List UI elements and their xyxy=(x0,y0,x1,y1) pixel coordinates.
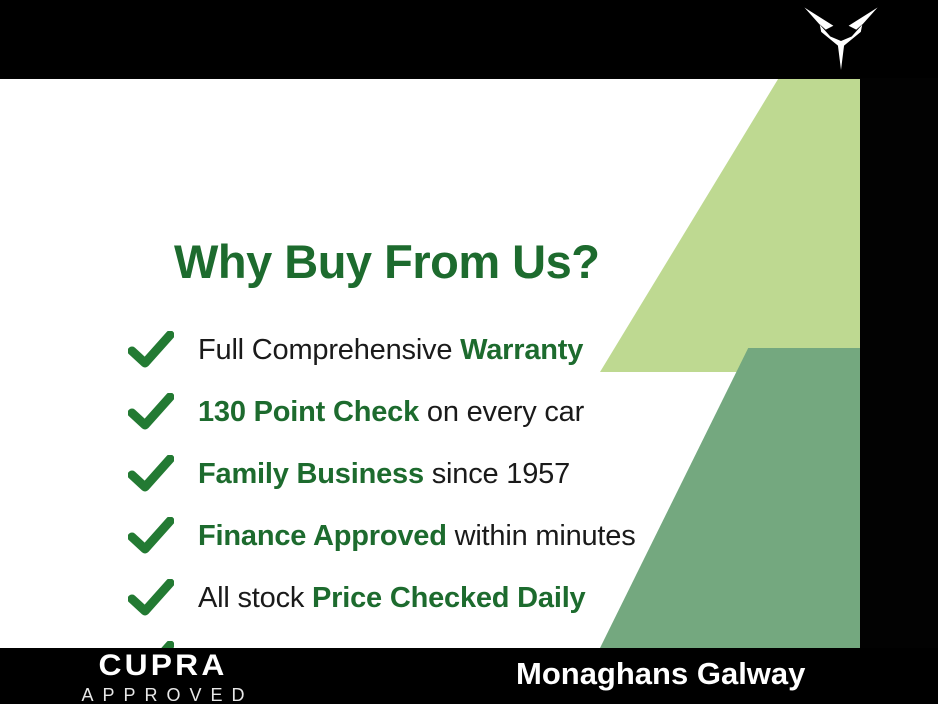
list-item-label: Family Business since 1957 xyxy=(198,458,570,491)
check-icon xyxy=(128,579,174,617)
header-bar xyxy=(0,0,938,78)
check-icon xyxy=(128,641,174,648)
benefits-list: Full Comprehensive Warranty 130 Point Ch… xyxy=(128,319,788,648)
approved-label: APPROVED xyxy=(68,686,258,704)
check-icon xyxy=(128,455,174,493)
list-item-label: 130 Point Check on every car xyxy=(198,396,584,429)
list-item-label: Full Comprehensive Warranty xyxy=(198,334,583,367)
cupra-wordmark: CUPRA xyxy=(62,651,263,681)
list-item: 130 Point Check on every car xyxy=(128,381,788,443)
list-item: Finance Approved within minutes xyxy=(128,505,788,567)
page-title: Why Buy From Us? xyxy=(174,234,599,289)
dealer-name: Monaghans Galway xyxy=(516,656,805,692)
cupra-tribal-logo-icon xyxy=(802,6,880,70)
list-item: Full Comprehensive Warranty xyxy=(128,319,788,381)
check-icon xyxy=(128,517,174,555)
check-icon xyxy=(128,393,174,431)
list-item: Family Business since 1957 xyxy=(128,443,788,505)
check-icon xyxy=(128,331,174,369)
content-card: Why Buy From Us? Full Comprehensive Warr… xyxy=(0,79,860,648)
list-item: Over 40,000 Cars Sold to the public xyxy=(128,629,788,648)
list-item: All stock Price Checked Daily xyxy=(128,567,788,629)
list-item-label: All stock Price Checked Daily xyxy=(198,582,586,615)
list-item-label: Finance Approved within minutes xyxy=(198,520,636,553)
promo-banner: Why Buy From Us? Full Comprehensive Warr… xyxy=(0,0,938,704)
cupra-approved-badge: CUPRA APPROVED xyxy=(68,651,258,704)
